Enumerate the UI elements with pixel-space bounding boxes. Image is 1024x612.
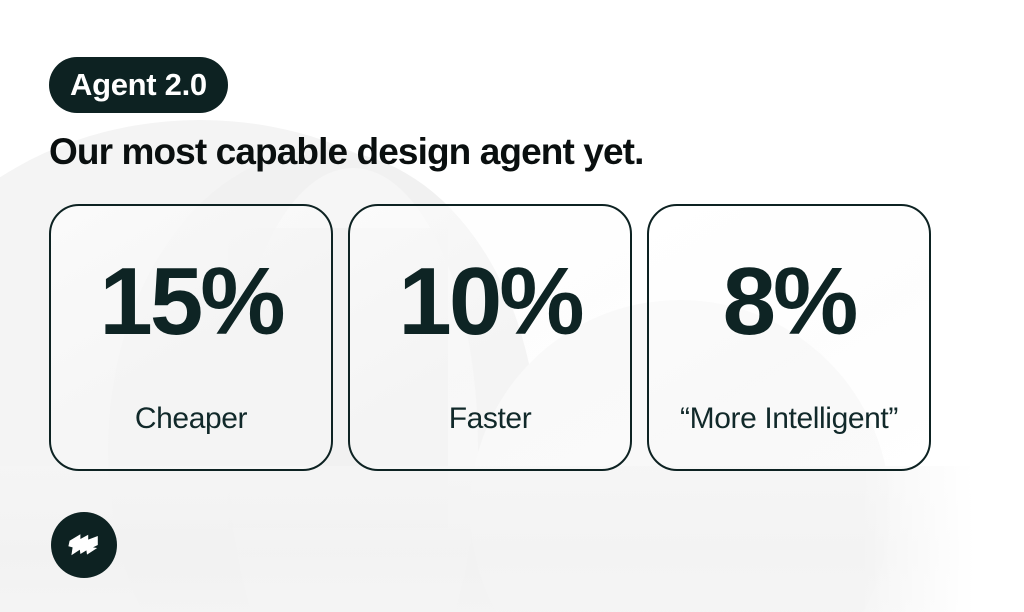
stat-card-faster: 10% Faster (348, 204, 632, 471)
stat-value: 8% (723, 254, 856, 350)
watermark-base-strip (0, 466, 1024, 612)
watermark-base-fade (860, 466, 1024, 612)
stat-card-more-intelligent: 8% “More Intelligent” (647, 204, 931, 471)
stat-label: Cheaper (135, 402, 247, 436)
stat-label: “More Intelligent” (680, 402, 898, 436)
stat-value: 10% (398, 254, 581, 350)
page-title: Our most capable design agent yet. (49, 131, 643, 173)
stat-card-list: 15% Cheaper 10% Faster 8% “More Intellig… (49, 204, 931, 471)
brand-mark-badge (51, 512, 117, 578)
brand-mark-icon (66, 530, 102, 560)
product-badge-label: Agent 2.0 (70, 67, 207, 103)
product-badge: Agent 2.0 (49, 57, 228, 113)
stat-label: Faster (449, 402, 532, 436)
stat-card-cheaper: 15% Cheaper (49, 204, 333, 471)
promo-graphic: Agent 2.0 Our most capable design agent … (0, 0, 1024, 612)
stat-value: 15% (99, 254, 282, 350)
